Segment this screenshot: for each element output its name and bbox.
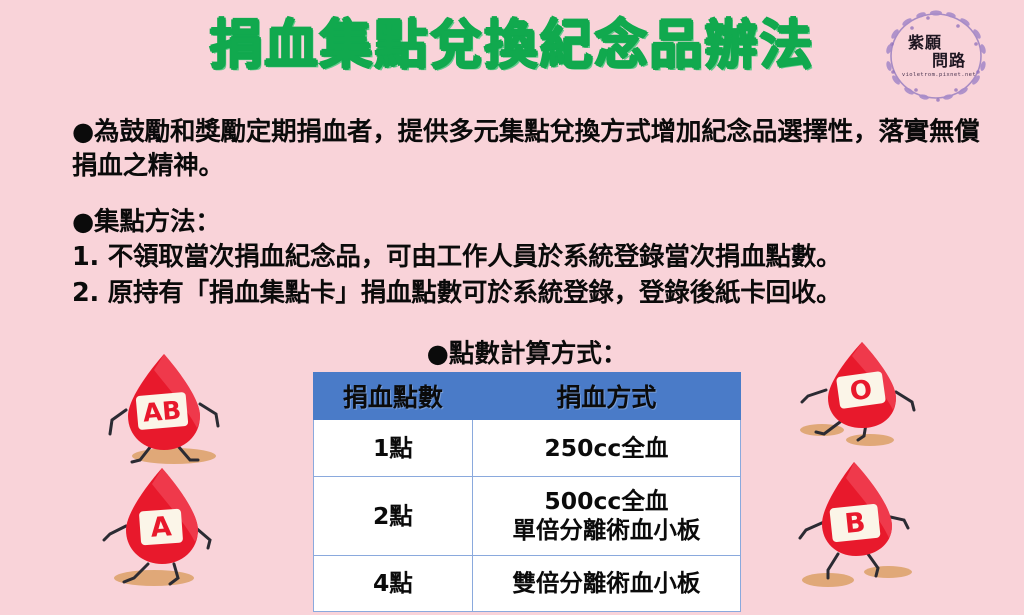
drop-label-text: O — [848, 375, 874, 408]
method-heading: ●集點方法： — [72, 206, 221, 240]
cell-method: 雙倍分離術血小板 — [472, 556, 740, 612]
blood-drop-mascot-ab: AB — [96, 348, 232, 470]
drop-shadow — [846, 434, 894, 446]
table-row: 1點 250cc全血 — [314, 420, 741, 477]
table-header-row: 捐血點數 捐血方式 — [314, 373, 741, 420]
method-line: 250cc全血 — [475, 434, 738, 463]
brand-logo: 紫願 問路 violetrom.pixnet.net — [866, 4, 1006, 108]
method-line: 單倍分離術血小板 — [475, 516, 738, 545]
drop-label-text: A — [150, 511, 173, 543]
points-table-body: 1點 250cc全血 2點 500cc全血 單倍分離術血小板 4點 雙倍分離術血… — [314, 420, 741, 612]
drop-label-text: AB — [142, 395, 183, 427]
points-table-header: 捐血點數 捐血方式 — [314, 373, 741, 420]
drop-shadow — [864, 566, 912, 578]
method-item-1: 1. 不領取當次捐血紀念品，可由工作人員於系統登錄當次捐血點數。 — [72, 241, 1002, 275]
table-row: 4點 雙倍分離術血小板 — [314, 556, 741, 612]
method-line: 500cc全血 — [475, 487, 738, 516]
floral-wreath-icon — [866, 4, 1006, 108]
cell-points: 4點 — [314, 556, 473, 612]
column-header-points: 捐血點數 — [314, 373, 473, 420]
points-table-caption: ●點數計算方式： — [313, 333, 741, 370]
blood-drop-mascot-o: O — [800, 338, 936, 466]
table-row: 2點 500cc全血 單倍分離術血小板 — [314, 477, 741, 556]
column-header-method: 捐血方式 — [472, 373, 740, 420]
cell-points: 1點 — [314, 420, 473, 477]
cell-method: 500cc全血 單倍分離術血小板 — [472, 477, 740, 556]
method-line: 雙倍分離術血小板 — [475, 569, 738, 598]
drop-label-text: B — [843, 507, 867, 540]
blood-drop-mascot-a: A — [96, 460, 232, 590]
points-table: 捐血點數 捐血方式 1點 250cc全血 2點 500cc全血 單倍分離術血小板… — [313, 372, 741, 612]
cell-points: 2點 — [314, 477, 473, 556]
method-item-2: 2. 原持有「捐血集點卡」捐血點數可於系統登錄，登錄後紙卡回收。 — [72, 277, 1002, 311]
blood-drop-mascot-b: B — [798, 458, 936, 594]
cell-method: 250cc全血 — [472, 420, 740, 477]
purpose-paragraph: ●為鼓勵和獎勵定期捐血者，提供多元集點兌換方式增加紀念品選擇性，落實無償捐血之精… — [72, 116, 1002, 184]
drop-shadow — [114, 570, 194, 586]
poster-canvas: 捐血集點兌換紀念品辦法 — [0, 0, 1024, 615]
